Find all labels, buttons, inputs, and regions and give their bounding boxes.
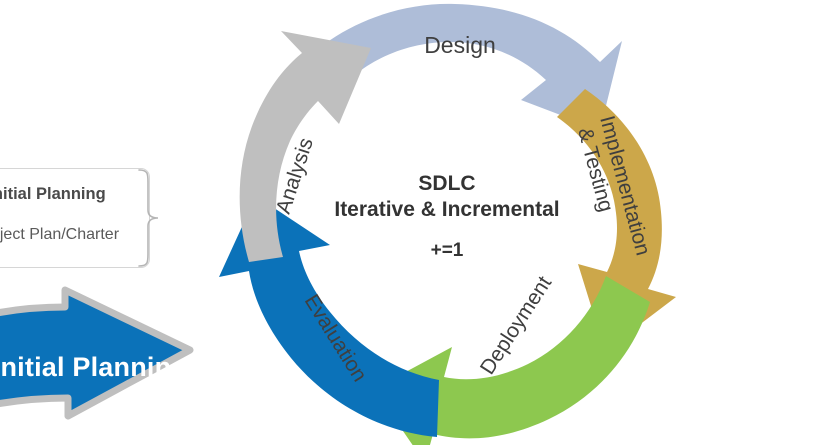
initial-planning-panel-title: Initial Planning: [0, 185, 135, 204]
initial-planning-panel-subtitle: Project Plan/Charter: [0, 226, 135, 244]
phase-arrow-analysis[interactable]: Analysis: [240, 31, 371, 262]
sdlc-diagram-canvas: Design Implementation & Testing Deployme…: [0, 0, 825, 445]
design-arrow-label: Design: [424, 32, 496, 58]
initial-planning-panel[interactable]: Initial Planning Project Plan/Charter: [0, 168, 150, 268]
center-subtitle: Iterative & Incremental: [334, 198, 559, 221]
cycle-center-text: SDLC Iterative & Incremental +=1: [334, 172, 559, 261]
center-equation: +=1: [431, 240, 464, 261]
initial-planning-big-arrow-label: Initial Planning: [0, 352, 188, 383]
curly-brace-icon: [136, 168, 162, 268]
center-title: SDLC: [418, 172, 475, 195]
